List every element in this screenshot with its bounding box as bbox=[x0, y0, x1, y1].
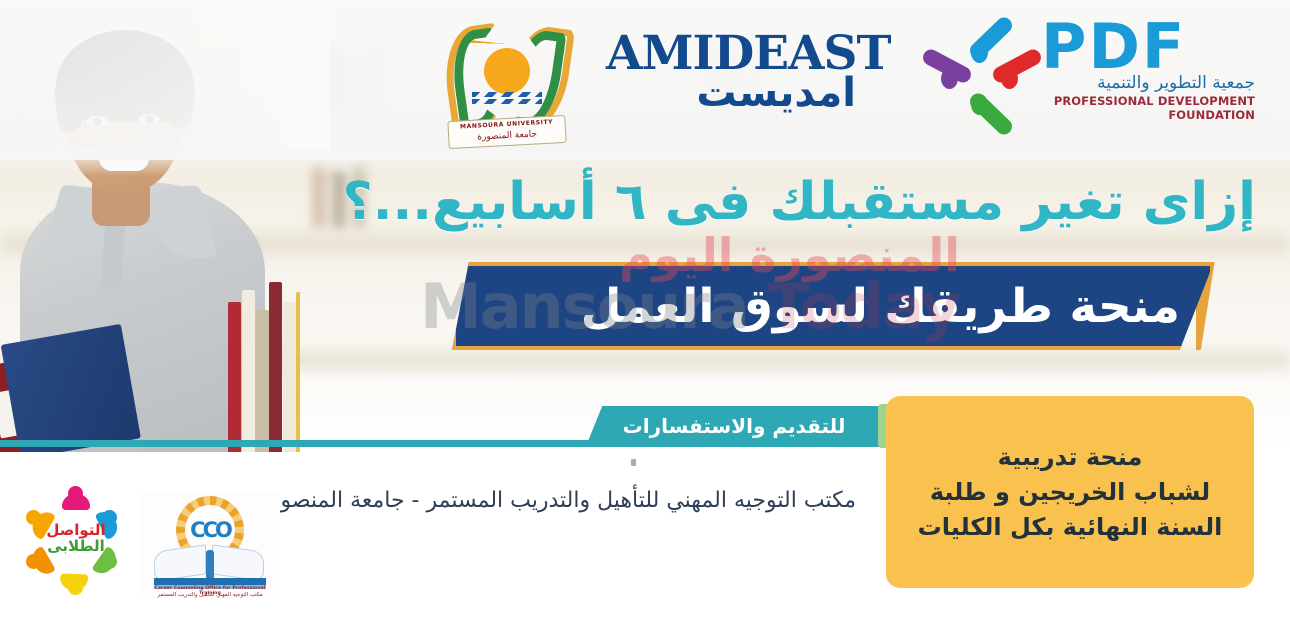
tawasol-text: التواصل الطلابى bbox=[44, 522, 108, 554]
amideast-logo: AMIDEAST امديست bbox=[606, 32, 856, 132]
cco-letters: CCO bbox=[180, 518, 240, 542]
people-star-icon bbox=[925, 24, 1035, 134]
tawasol-line-1: التواصل bbox=[44, 522, 108, 538]
books-held bbox=[0, 309, 171, 452]
offer-line-3: السنة النهائية بكل الكليات bbox=[918, 513, 1223, 541]
tawasol-line-2: الطلابى bbox=[44, 538, 108, 554]
offer-box: منحة تدريبية لشباب الخريجين و طلبة السنة… bbox=[886, 396, 1254, 588]
water-waves-icon bbox=[472, 92, 542, 110]
logo-ribbon: MANSOURA UNIVERSITY جامعة المنصورة bbox=[447, 115, 566, 149]
sun-icon bbox=[484, 48, 530, 94]
cco-text-ar: مكتب التوجيه المهني للتأهيل والتدريب الم… bbox=[146, 592, 274, 598]
pdf-logo: PDF جمعية التطوير والتنمية PROFESSIONAL … bbox=[925, 18, 1255, 150]
poster-root: MANSOURA UNIVERSITY جامعة المنصورة AMIDE… bbox=[0, 0, 1290, 626]
office-line: مكتب التوجيه المهني للتأهيل والتدريب الم… bbox=[256, 488, 856, 513]
mansoura-university-logo: MANSOURA UNIVERSITY جامعة المنصورة bbox=[432, 6, 582, 156]
cta-bar[interactable]: للتقديم والاستفسارات bbox=[586, 406, 882, 446]
cta-label: للتقديم والاستفسارات bbox=[623, 414, 846, 438]
stray-mark bbox=[631, 459, 636, 466]
mansoura-ribbon-ar: جامعة المنصورة bbox=[449, 128, 565, 144]
pdf-letters: PDF bbox=[1041, 18, 1255, 75]
shelf-books bbox=[228, 262, 300, 452]
offer-line-2: لشباب الخريجين و طلبة bbox=[930, 478, 1210, 506]
hero-photo-area: MANSOURA UNIVERSITY جامعة المنصورة AMIDE… bbox=[0, 0, 1290, 452]
logo-band-fade bbox=[0, 0, 330, 160]
main-banner-text: منحة طريقك لسوق العمل bbox=[456, 279, 1180, 334]
offer-line-1: منحة تدريبية bbox=[998, 443, 1143, 471]
student-communication-logo: التواصل الطلابى bbox=[22, 492, 130, 598]
cco-logo: CCO Career Counseling Office for Profess… bbox=[140, 492, 280, 598]
pdf-text-en: PROFESSIONAL DEVELOPMENT FOUNDATION bbox=[1041, 94, 1255, 122]
headline: إزاى تغير مستقبلك فى ٦ أسابيع...؟ bbox=[296, 172, 1256, 232]
open-book-icon bbox=[154, 548, 266, 582]
main-banner: منحة طريقك لسوق العمل bbox=[452, 262, 1214, 350]
